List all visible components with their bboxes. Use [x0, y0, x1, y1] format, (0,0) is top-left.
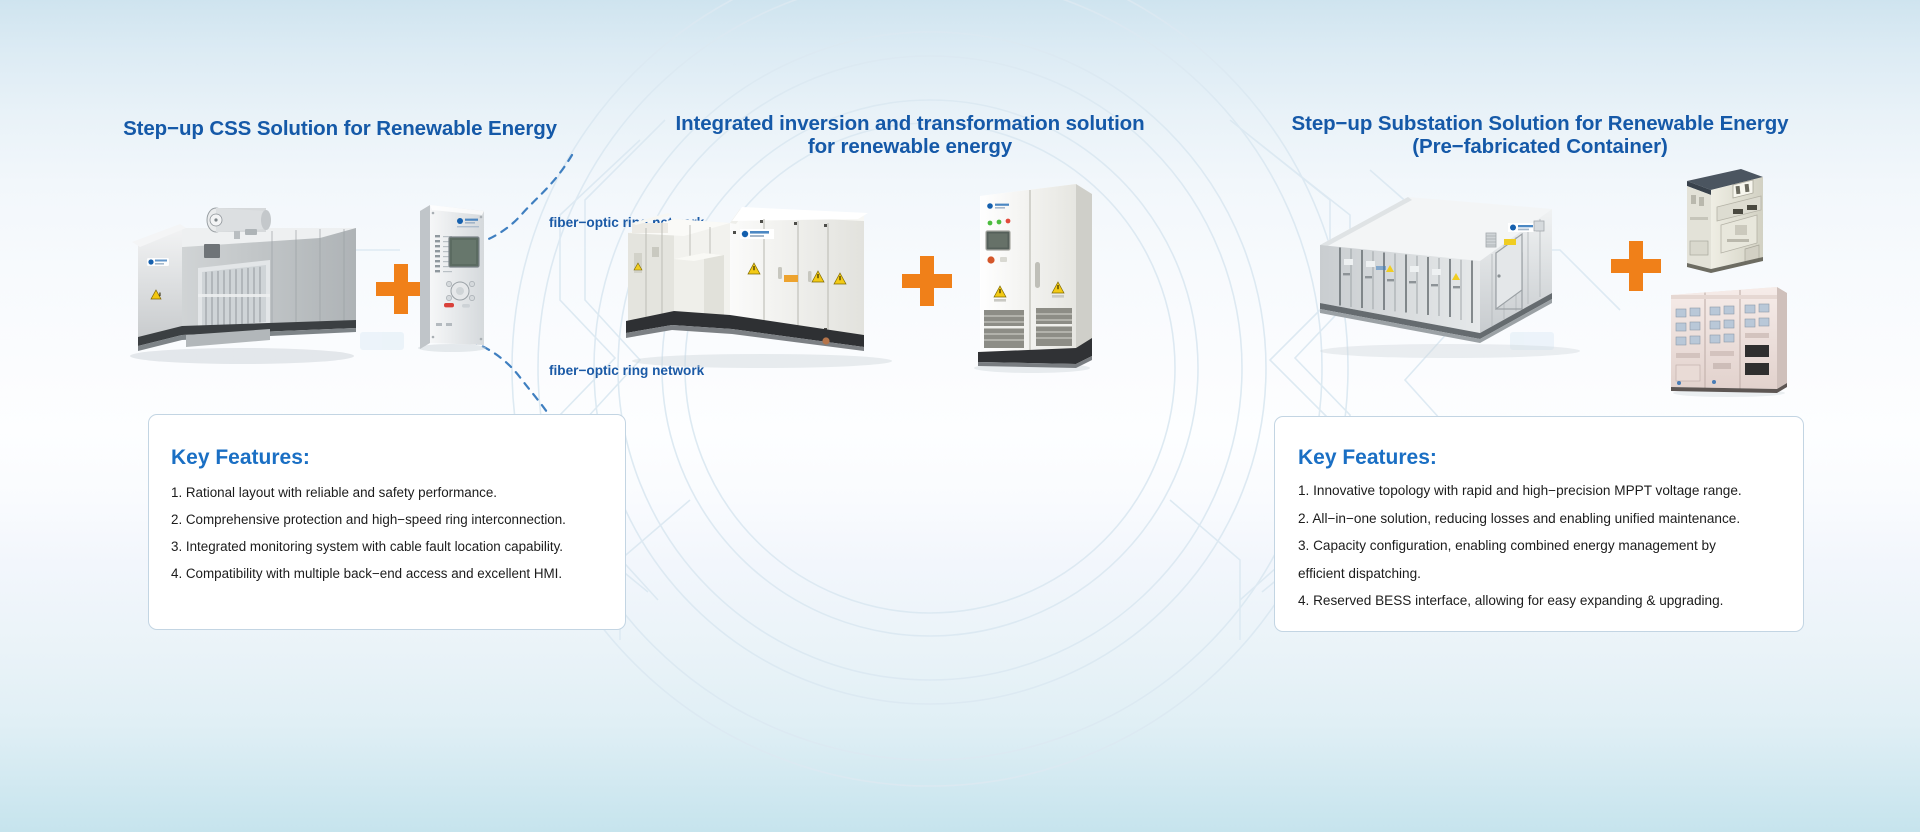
- column-2-title-line2: for renewable energy: [630, 135, 1190, 158]
- key-features-heading-1: Key Features:: [171, 446, 310, 470]
- plus-separator-3: [1605, 235, 1667, 297]
- photo-low-voltage-switchboard: [1665, 283, 1793, 398]
- photo-integrated-inversion-station: [612, 175, 902, 375]
- list-item: 3. Integrated monitoring system with cab…: [171, 533, 566, 560]
- column-1-title: Step−up CSS Solution for Renewable Energ…: [60, 117, 620, 140]
- column-3-title-line2: (Pre−fabricated Container): [1220, 135, 1860, 158]
- column-2-title-line1: Integrated inversion and transformation …: [630, 112, 1190, 135]
- photo-step-up-css-transformer: [120, 198, 365, 368]
- key-features-list-1: 1. Rational layout with reliable and saf…: [171, 479, 566, 587]
- column-3-title-line1: Step−up Substation Solution for Renewabl…: [1220, 112, 1860, 135]
- photo-prefabricated-container-substation: [1310, 173, 1595, 373]
- solution-column-1: Step−up CSS Solution for Renewable Energ…: [60, 0, 620, 832]
- solution-column-2: Integrated inversion and transformation …: [630, 0, 1190, 832]
- photo-inverter-cabinet: [966, 178, 1098, 376]
- list-item: 1. Rational layout with reliable and saf…: [171, 479, 566, 506]
- photo-switchgear-cubicle: [1677, 165, 1769, 275]
- column-2-title: Integrated inversion and transformation …: [630, 112, 1190, 158]
- solution-column-3: Step−up Substation Solution for Renewabl…: [1215, 0, 1855, 832]
- column-3-title: Step−up Substation Solution for Renewabl…: [1220, 112, 1860, 158]
- plus-separator-2: [896, 250, 958, 312]
- photo-protection-relay-device: [412, 205, 494, 353]
- key-features-card-1: Key Features: 1. Rational layout with re…: [148, 414, 626, 630]
- slide-canvas: Step−up CSS Solution for Renewable Energ…: [0, 0, 1920, 832]
- list-item: 2. Comprehensive protection and high−spe…: [171, 506, 566, 533]
- list-item: 4. Compatibility with multiple back−end …: [171, 560, 566, 587]
